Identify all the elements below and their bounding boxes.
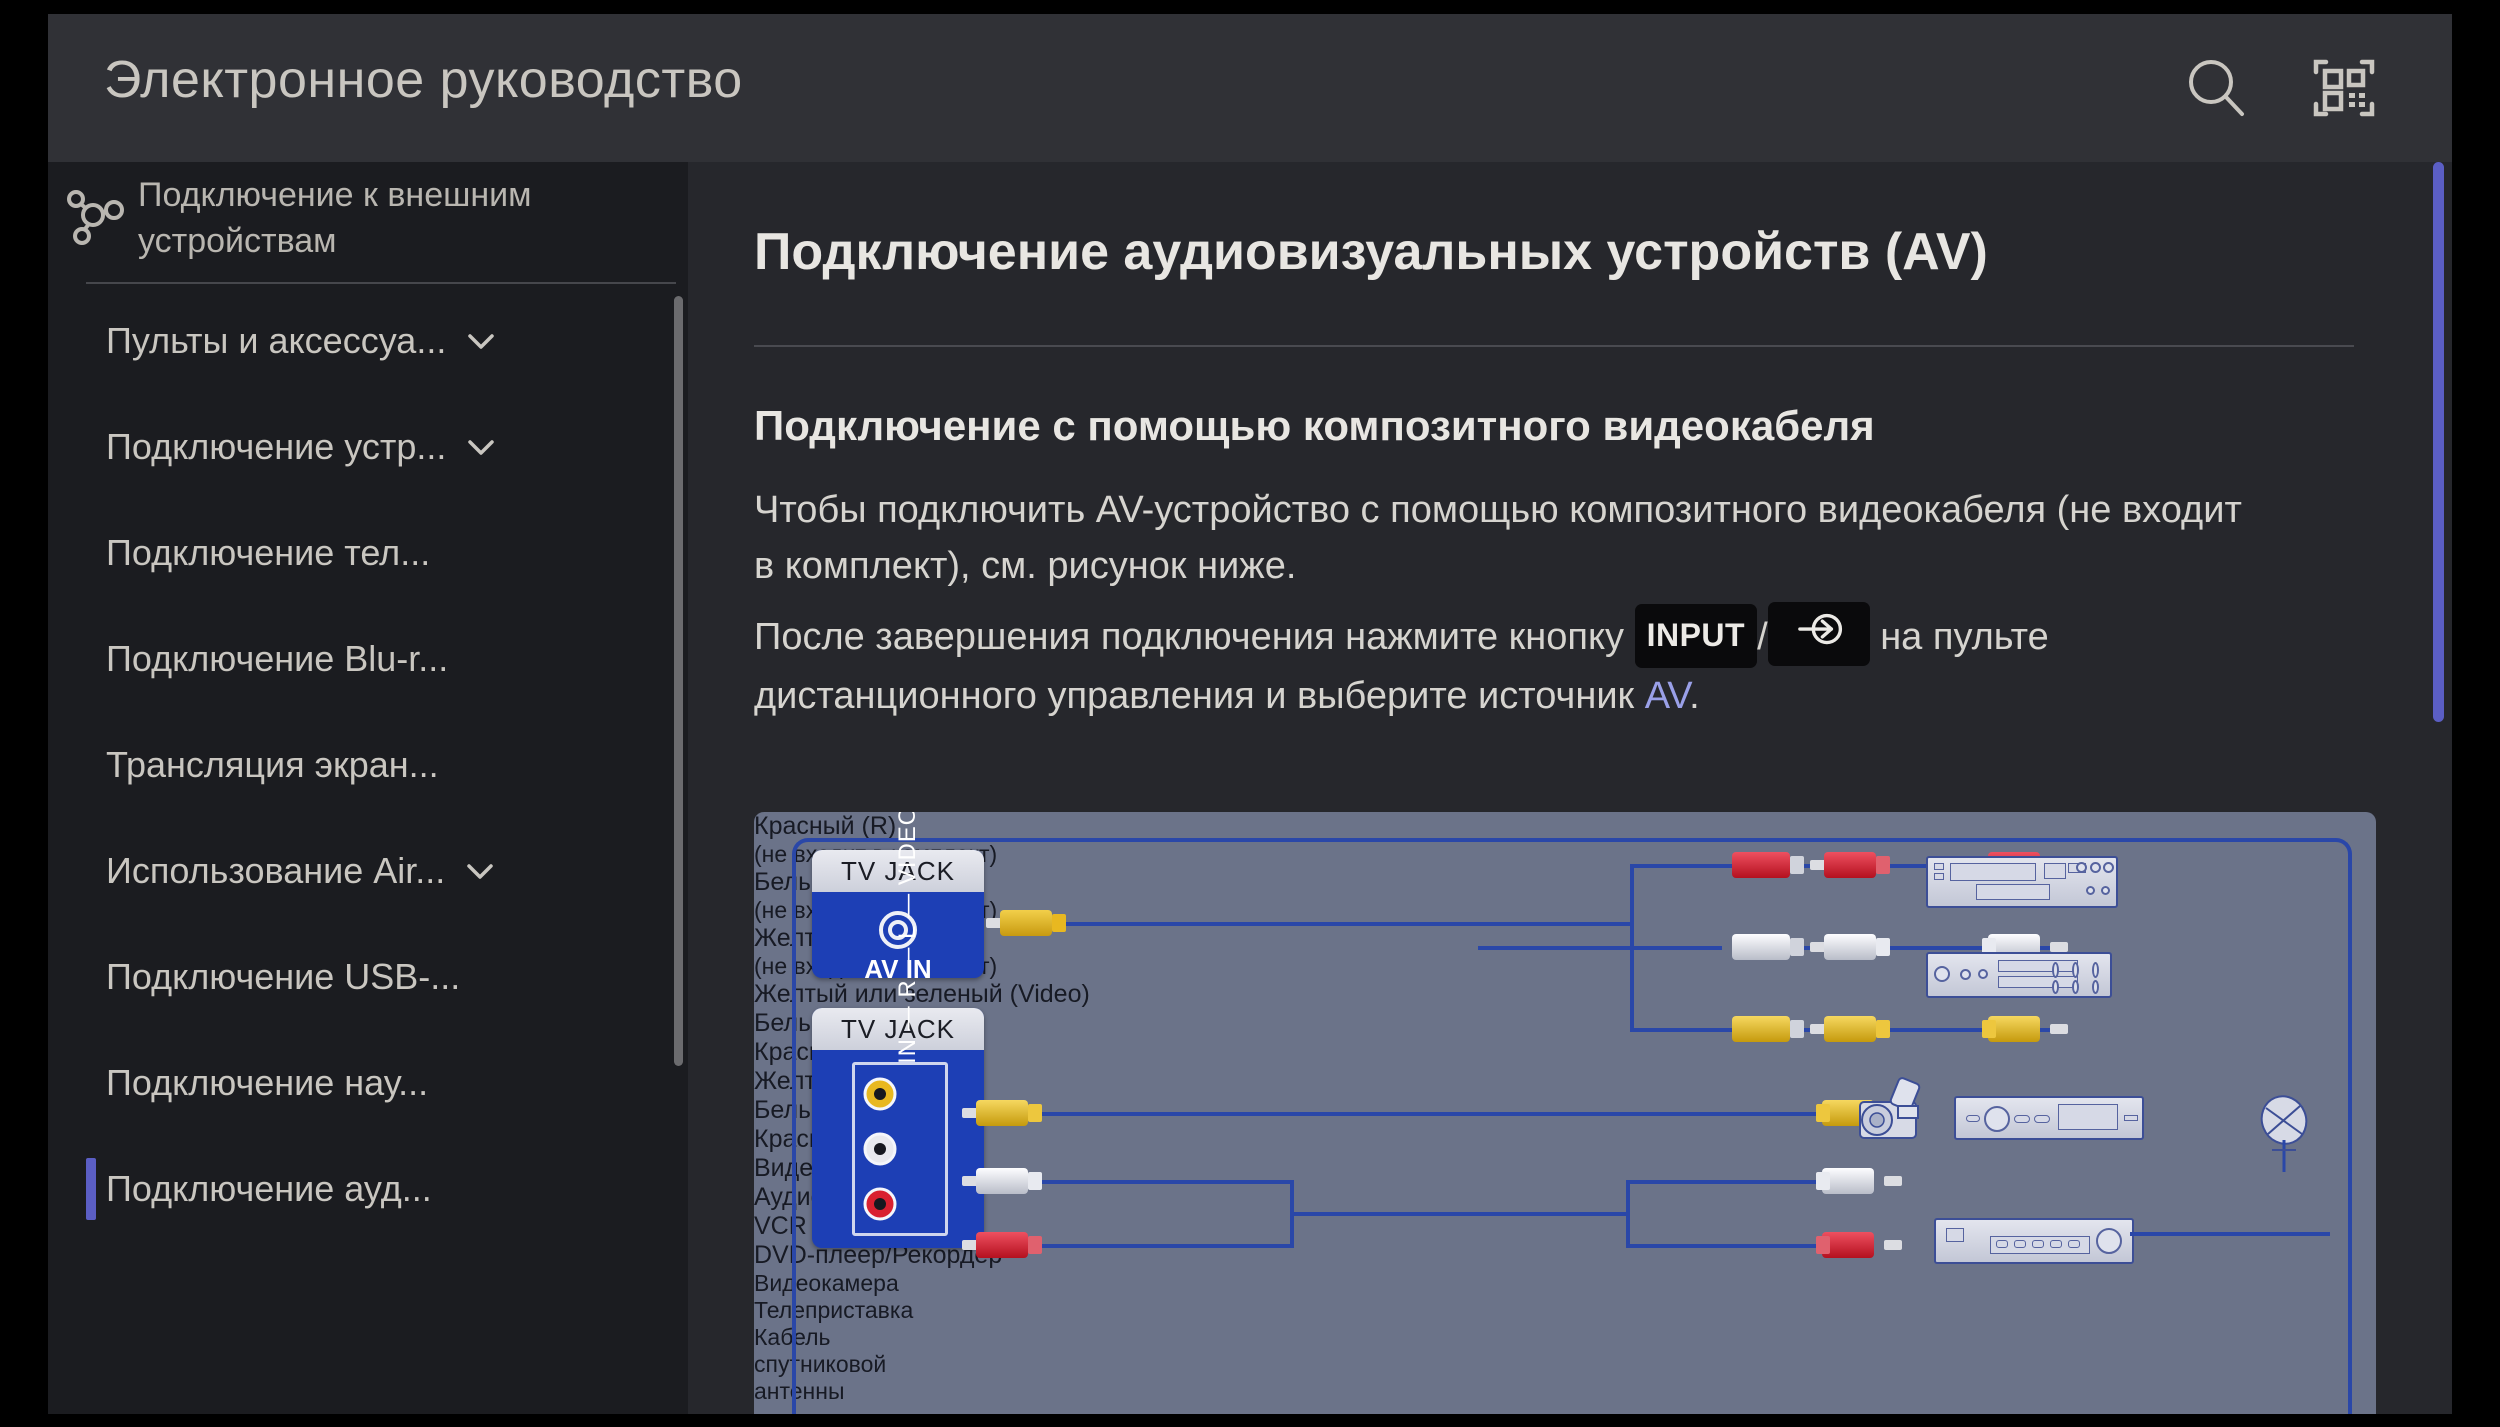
sidebar-item-active-indicator bbox=[86, 416, 96, 478]
sidebar-item-active-indicator bbox=[86, 734, 96, 796]
connection-nodes-icon bbox=[62, 184, 126, 248]
device-icon-camcorder bbox=[1850, 1074, 1940, 1148]
para2-text-1: После завершения подключения нажмите кно… bbox=[754, 616, 1635, 658]
wire-bottom-white-l bbox=[1034, 1180, 1294, 1184]
sidebar-item-0[interactable]: Пульты и аксессуа... bbox=[48, 288, 688, 394]
device-icon-dvd bbox=[1926, 952, 2112, 998]
sidebar-scrollbar-thumb[interactable] bbox=[674, 296, 683, 1066]
sidebar-item-active-indicator bbox=[86, 522, 96, 584]
tv-screen: Электронное руководство bbox=[0, 0, 2500, 1427]
sidebar-item-label: Подключение ауд... bbox=[106, 1168, 432, 1210]
app-title: Электронное руководство bbox=[104, 50, 743, 110]
input-arrow-icon bbox=[1768, 602, 1870, 666]
chevron-down-icon bbox=[464, 430, 498, 464]
sidebar-item-2[interactable]: Подключение тел... bbox=[48, 500, 688, 606]
wire-white-left bbox=[1478, 946, 1722, 950]
wire-bottom-red-r bbox=[1626, 1244, 1826, 1248]
section-heading: Подключение с помощью композитного видео… bbox=[754, 402, 2314, 450]
emanual-app: Электронное руководство bbox=[48, 14, 2452, 1414]
para2-separator: / bbox=[1757, 616, 1768, 658]
input-button-badge: INPUT bbox=[1635, 604, 1758, 668]
sidebar-item-label: Подключение USB-... bbox=[106, 956, 460, 998]
content-area: Подключение аудиовизуальных устройств (A… bbox=[688, 162, 2452, 1414]
sidebar-item-label: Трансляция экран... bbox=[106, 744, 439, 786]
chevron-down-icon bbox=[463, 854, 497, 888]
wire-bottom-join-r bbox=[1626, 1180, 1630, 1248]
sidebar-item-active-indicator bbox=[86, 628, 96, 690]
wire-satellite-feed bbox=[2130, 1232, 2330, 1236]
device-icon-satellite-dish bbox=[2254, 1094, 2326, 1174]
sidebar-item-5[interactable]: Использование Air... bbox=[48, 818, 688, 924]
sidebar-divider bbox=[86, 282, 676, 284]
rca-plug-bwhite-left bbox=[962, 1168, 1048, 1194]
sidebar-item-label: Подключение нау... bbox=[106, 1062, 428, 1104]
rca-plug-bred-left bbox=[962, 1232, 1048, 1258]
sidebar-item-3[interactable]: Подключение Blu-r... bbox=[48, 606, 688, 712]
label-cable-red-name: Красный (R) bbox=[754, 812, 2376, 841]
sidebar-item-label: Подключение Blu-r... bbox=[106, 638, 448, 680]
rca-plug-yellow-left bbox=[1810, 1016, 1896, 1042]
sidebar-item-active-indicator bbox=[86, 1052, 96, 1114]
sidebar-item-active-indicator bbox=[86, 310, 96, 372]
content-scrollbar-thumb[interactable] bbox=[2433, 162, 2444, 722]
sidebar-item-active-indicator bbox=[86, 840, 96, 902]
chevron-down-icon bbox=[464, 324, 498, 358]
qr-code-icon[interactable] bbox=[2308, 52, 2380, 124]
sidebar-item-4[interactable]: Трансляция экран... bbox=[48, 712, 688, 818]
sidebar-item-label: Пульты и аксессуа... bbox=[106, 320, 446, 362]
wire-yellow-stub bbox=[1630, 1028, 1740, 1032]
connection-diagram: TV JACK AV IN TV JACK bbox=[754, 812, 2376, 1414]
wire-bottom-video bbox=[1034, 1112, 1830, 1116]
rca-plug-yellow-right bbox=[1982, 1016, 2068, 1042]
para2-period: . bbox=[1689, 675, 1700, 717]
rca-jack-red bbox=[1732, 852, 1814, 878]
device-icon-set-top-box bbox=[1954, 1090, 2144, 1146]
sidebar-item-8[interactable]: Подключение ауд... bbox=[48, 1136, 688, 1242]
tv-jack-composite-in: TV JACK IN — R — L — VIDEO bbox=[812, 1008, 984, 1248]
wire-red-stub bbox=[1630, 864, 1740, 868]
sidebar-item-label: Подключение тел... bbox=[106, 532, 430, 574]
rca-jack-white bbox=[1732, 934, 1814, 960]
wire-av-in bbox=[1054, 922, 1634, 926]
paragraph-intro: Чтобы подключить AV-устройство с помощью… bbox=[754, 482, 2254, 594]
av-source-accent: AV bbox=[1645, 675, 1689, 717]
rca-plug-bwhite-right bbox=[1816, 1168, 1902, 1194]
composite-port-label: IN — R — L — VIDEO bbox=[894, 892, 922, 1064]
sidebar-section-label: Подключение к внешним устройствам bbox=[138, 172, 668, 264]
rca-plug-bvideo-left bbox=[962, 1100, 1048, 1126]
sidebar-item-1[interactable]: Подключение устр... bbox=[48, 394, 688, 500]
composite-port-jacks bbox=[860, 1072, 900, 1226]
sidebar-section-header[interactable]: Подключение к внешним устройствам bbox=[48, 162, 688, 282]
rca-plug-white-left bbox=[1810, 934, 1896, 960]
rca-plug-red-left bbox=[1810, 852, 1896, 878]
sidebar-item-label: Подключение устр... bbox=[106, 426, 446, 468]
rca-jack-yellow bbox=[1732, 1016, 1814, 1042]
sidebar-item-label: Использование Air... bbox=[106, 850, 445, 892]
wire-bottom-audio-mid bbox=[1290, 1212, 1630, 1216]
paragraph-instruction: После завершения подключения нажмите кно… bbox=[754, 602, 2254, 724]
rca-connector-av-in bbox=[986, 910, 1068, 936]
sidebar-item-6[interactable]: Подключение USB-... bbox=[48, 924, 688, 1030]
rca-plug-bred-right bbox=[1816, 1232, 1902, 1258]
title-divider bbox=[754, 345, 2354, 347]
page-title: Подключение аудиовизуальных устройств (A… bbox=[754, 222, 2314, 282]
wire-bottom-white-r bbox=[1626, 1180, 1826, 1184]
device-icon-av-receiver bbox=[1934, 1212, 2134, 1268]
sidebar: Подключение к внешним устройствам Пульты… bbox=[48, 162, 688, 1414]
search-icon[interactable] bbox=[2180, 52, 2252, 124]
app-header: Электронное руководство bbox=[48, 14, 2452, 162]
sidebar-item-active-indicator bbox=[86, 946, 96, 1008]
sidebar-item-active-indicator bbox=[86, 1158, 96, 1220]
sidebar-item-7[interactable]: Подключение нау... bbox=[48, 1030, 688, 1136]
device-icon-vcr bbox=[1926, 856, 2118, 908]
sidebar-nav-list: Пульты и аксессуа...Подключение устр...П… bbox=[48, 288, 688, 1408]
wire-bottom-red-l bbox=[1034, 1244, 1294, 1248]
